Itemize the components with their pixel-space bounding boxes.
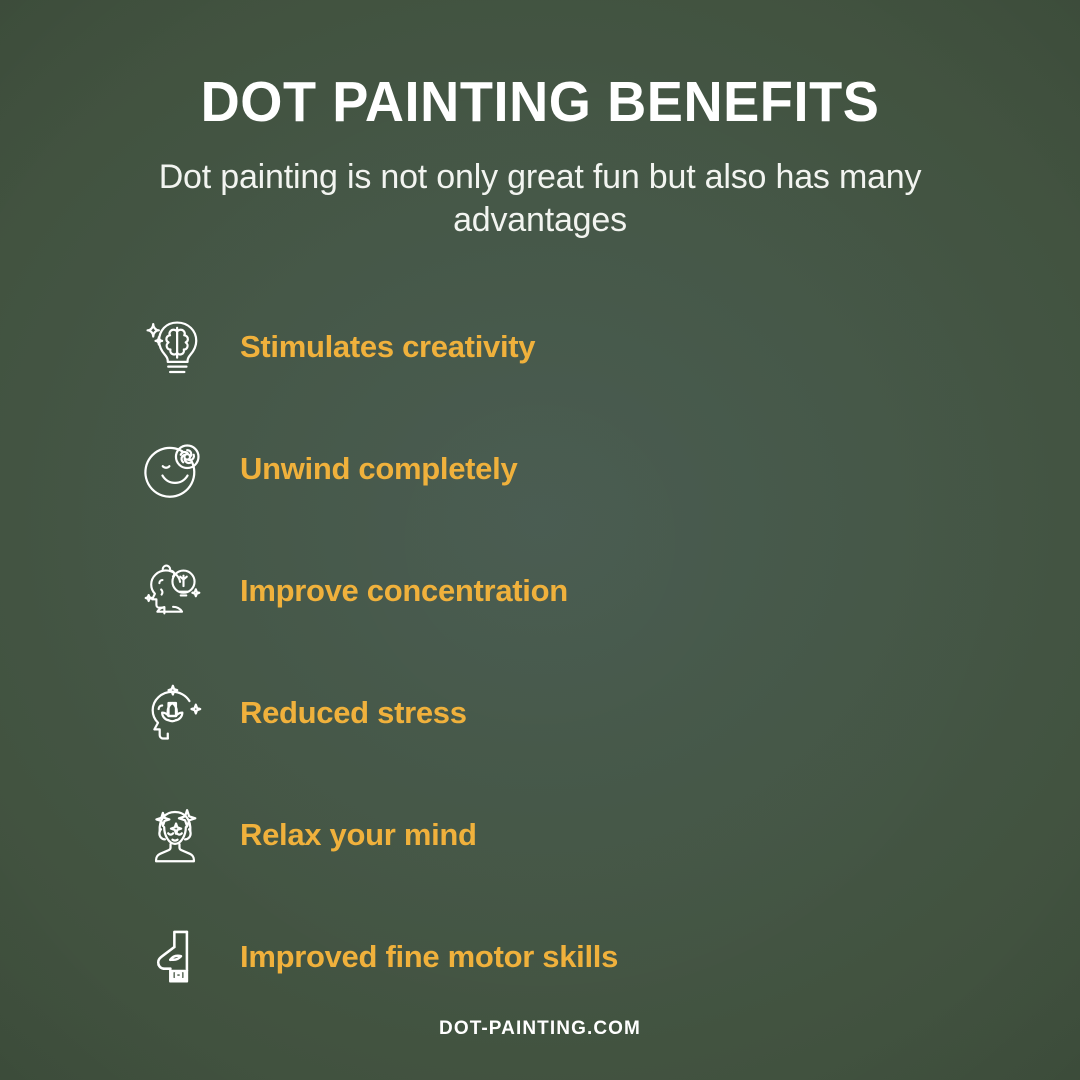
infographic-poster: DOT PAINTING BENEFITS Dot painting is no… <box>0 0 1080 1080</box>
head-profile-lightbulb-icon <box>140 556 210 626</box>
benefits-list: Stimulates creativity Unwind complet <box>0 286 1080 1018</box>
page-title: DOT PAINTING BENEFITS <box>27 72 1053 132</box>
list-item: Relax your mind <box>0 774 1080 896</box>
smiling-face-flower-icon <box>140 434 210 504</box>
benefit-label: Reduced stress <box>240 695 467 731</box>
page-subtitle: Dot painting is not only great fun but a… <box>145 156 935 242</box>
poster-footer: DOT-PAINTING.COM <box>0 1018 1080 1040</box>
hand-holding-object-icon <box>140 922 210 992</box>
head-profile-lotus-icon <box>140 678 210 748</box>
list-item: Unwind completely <box>0 408 1080 530</box>
list-item: Stimulates creativity <box>0 286 1080 408</box>
poster-header: DOT PAINTING BENEFITS Dot painting is no… <box>0 0 1080 242</box>
benefit-label: Improved fine motor skills <box>240 939 618 975</box>
lightbulb-brain-sparkle-icon <box>140 312 210 382</box>
benefit-label: Stimulates creativity <box>240 329 535 365</box>
benefit-label: Unwind completely <box>240 451 517 487</box>
benefit-label: Improve concentration <box>240 573 568 609</box>
relaxed-person-sparkle-icon <box>140 800 210 870</box>
list-item: Reduced stress <box>0 652 1080 774</box>
list-item: Improve concentration <box>0 530 1080 652</box>
benefit-label: Relax your mind <box>240 817 477 853</box>
list-item: Improved fine motor skills <box>0 896 1080 1018</box>
website-url: DOT-PAINTING.COM <box>439 1018 641 1039</box>
